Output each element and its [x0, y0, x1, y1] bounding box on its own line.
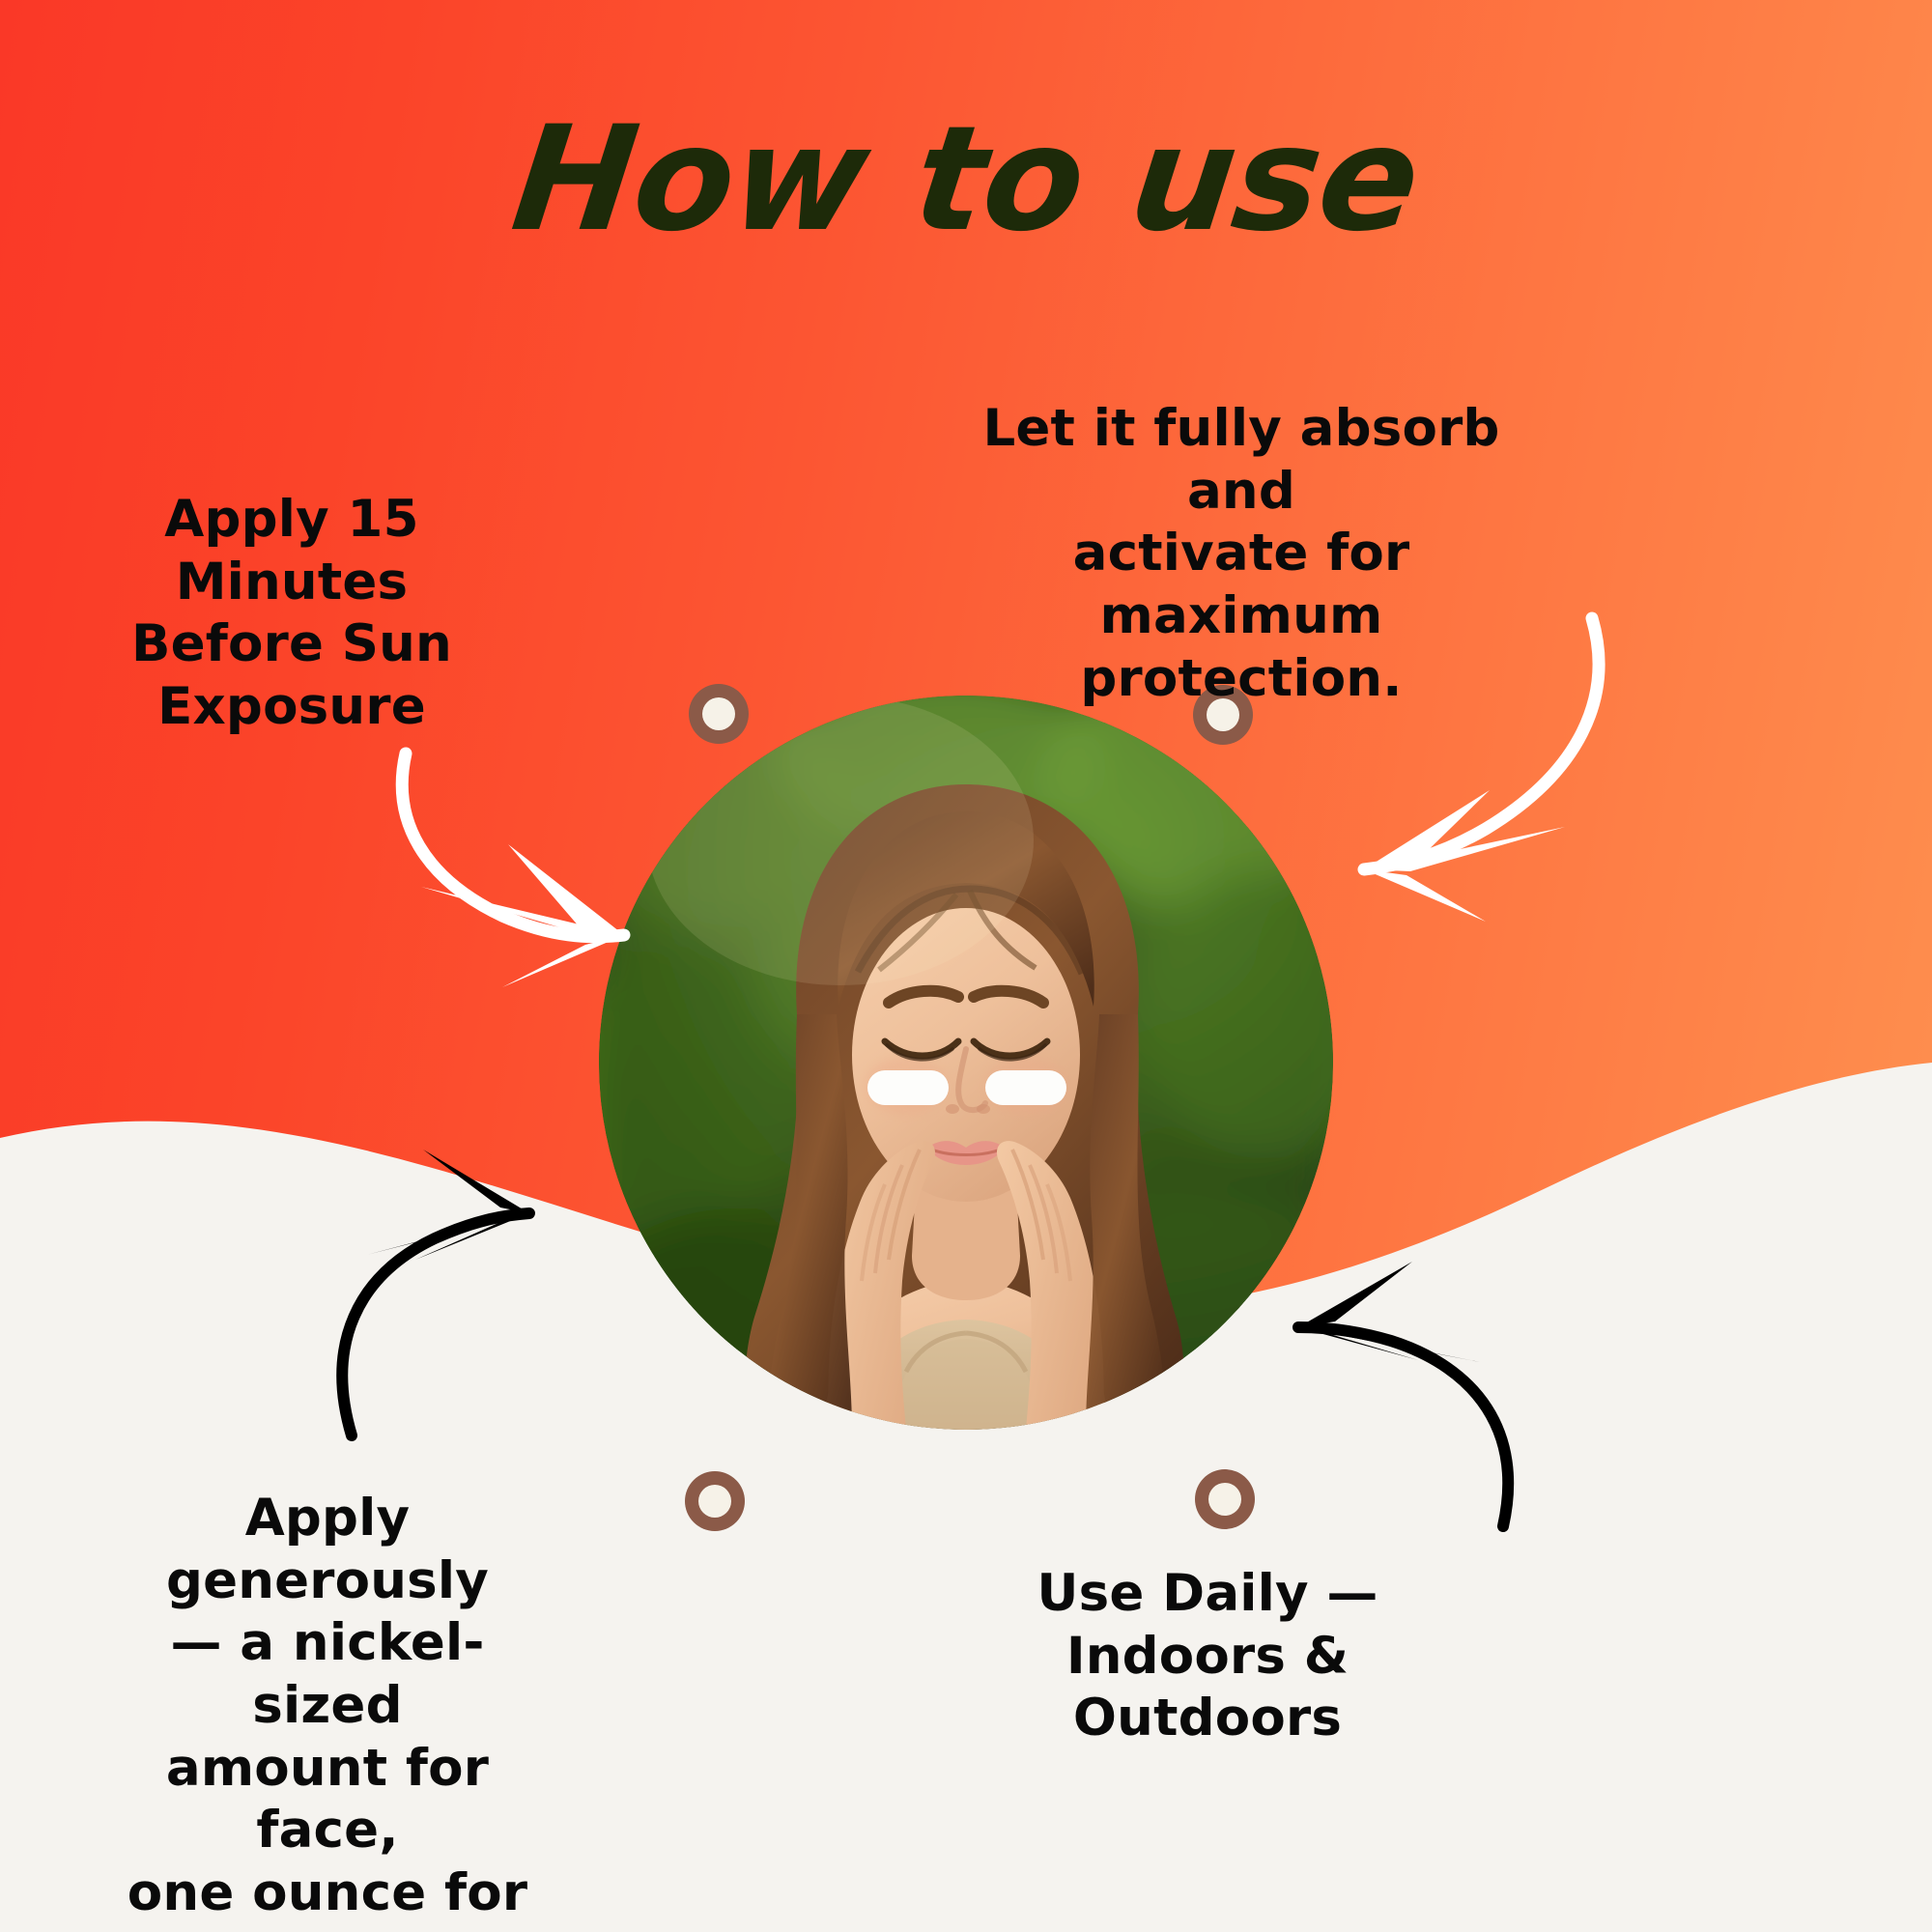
infographic-canvas: How to use	[0, 0, 1932, 1932]
step-label-apply-generously: Apply generously — a nickel-sized amount…	[120, 1488, 535, 1932]
step-label-let-it-absorb: Let it fully absorb and activate for max…	[923, 398, 1560, 710]
page-title: How to use	[0, 104, 1932, 257]
photo-illustration	[599, 696, 1333, 1430]
step-label-use-daily: Use Daily — Indoors & Outdoors	[1024, 1563, 1391, 1750]
woman-applying-sunscreen-photo	[599, 696, 1333, 1430]
step-label-apply-15-minutes: Apply 15 Minutes Before Sun Exposure	[54, 489, 529, 739]
